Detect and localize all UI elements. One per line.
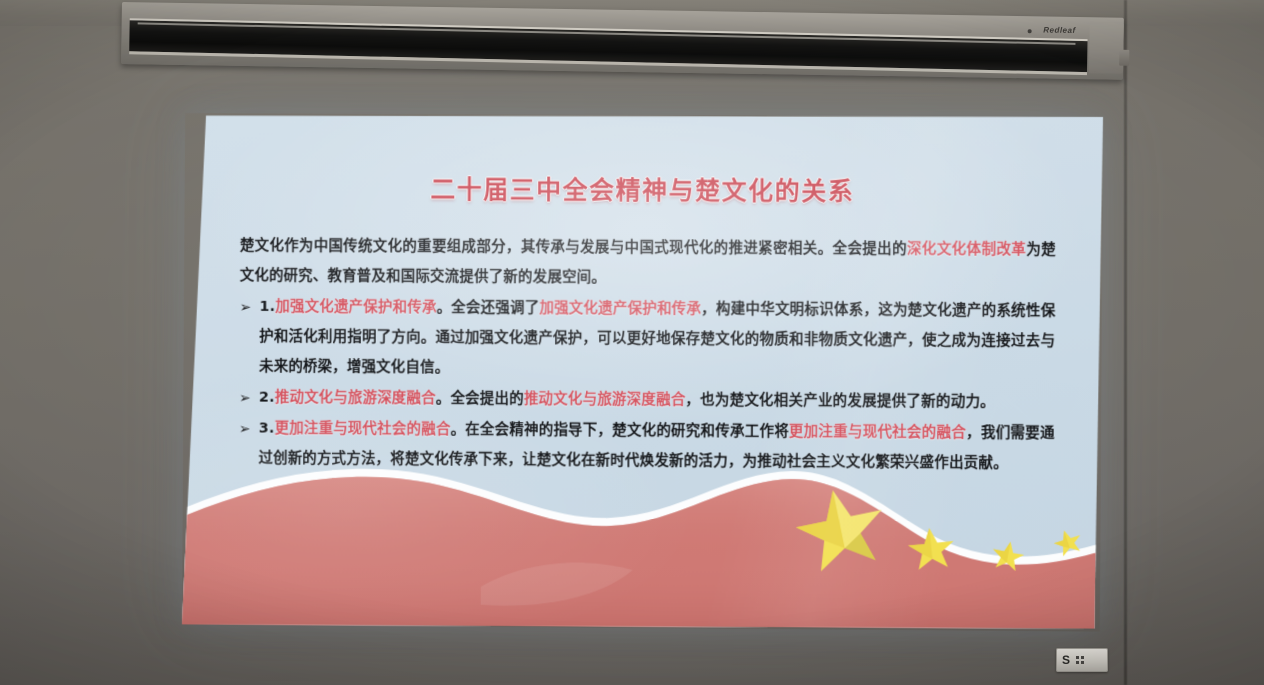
wall-seam-right [1124,0,1127,685]
bullet-item-2: ➢ 2.推动文化与旅游深度融合。全会提出的推动文化与旅游深度融合，也为楚文化相关… [239,383,1055,418]
bullet-marker-icon: ➢ [239,413,259,443]
bullet-marker-icon: ➢ [239,383,259,413]
projector-screen-brand-label: Redleaf [1043,25,1076,35]
bullet-item-1: ➢ 1.加强文化遗产保护和传承。全会还强调了加强文化遗产保护和传承，构建中华文明… [239,292,1056,387]
bullet-2-seg-3: ，也为楚文化相关产业的发展提供了新的动力。 [685,392,995,410]
bullet-2-number: 2. [259,390,275,406]
bullet-item-3: ➢ 3.更加注重与现代社会的融合。在全会精神的指导下，楚文化的研究和传承工作将更… [239,413,1055,478]
bullet-3-seg-2-highlight: 更加注重与现代社会的融合 [789,424,966,441]
classroom-projection-scene: Redleaf [0,0,1264,685]
intro-seg-1-highlight: 深化文化体制改革 [907,241,1026,258]
bullet-1-text: 1.加强文化遗产保护和传承。全会还强调了加强文化遗产保护和传承，构建中华文明标识… [259,292,1056,387]
brand-dot-icon [1028,29,1032,33]
housing-end-cap [1089,21,1124,74]
intro-seg-0: 楚文化作为中国传统文化的重要组成部分，其传承与发展与中国式现代化的推进紧密相关。… [240,238,907,257]
wall-plate-dots-icon [1076,656,1084,664]
five-stars-decoration [182,475,1101,612]
slide-body: 楚文化作为中国传统文化的重要组成部分，其传承与发展与中国式现代化的推进紧密相关。… [239,231,1056,479]
bullet-1-seg-0-highlight: 加强文化遗产保护和传承 [275,299,436,316]
slide-title: 二十届三中全会精神与楚文化的关系 [184,169,1102,209]
bullet-marker-icon: ➢ [239,292,259,322]
bullet-3-text: 3.更加注重与现代社会的融合。在全会精神的指导下，楚文化的研究和传承工作将更加注… [258,414,1054,479]
star-small-icon [990,539,1026,572]
bullet-2-seg-0-highlight: 推动文化与旅游深度融合 [275,390,436,407]
bullet-2-seg-1: 。全会提出的 [436,391,524,408]
slide-canvas: 二十届三中全会精神与楚文化的关系 楚文化作为中国传统文化的重要组成部分，其传承与… [182,113,1103,632]
housing-mount-bracket [1119,50,1129,66]
bullet-3-seg-0-highlight: 更加注重与现代社会的融合 [275,421,451,438]
wall-plate-glyph: S [1062,654,1070,666]
bullet-2-seg-2-highlight: 推动文化与旅游深度融合 [524,391,686,408]
bullet-2-text: 2.推动文化与旅游深度融合。全会提出的推动文化与旅游深度融合，也为楚文化相关产业… [259,383,1055,418]
bullet-3-seg-1: 。在全会精神的指导下，楚文化的研究和传承工作将 [450,422,788,440]
star-smaller-icon [1051,526,1085,557]
wall-socket-plate[interactable]: S [1056,648,1108,672]
bullet-1-seg-2-highlight: 加强文化遗产保护和传承 [539,300,701,317]
intro-paragraph: 楚文化作为中国传统文化的重要组成部分，其传承与发展与中国式现代化的推进紧密相关。… [240,231,1056,295]
star-large-icon [790,481,891,574]
bullet-1-seg-1: 。全会还强调了 [437,300,540,317]
bullet-3-number: 3. [259,421,275,437]
star-medium-icon [907,526,957,571]
projected-slide: 二十届三中全会精神与楚文化的关系 楚文化作为中国传统文化的重要组成部分，其传承与… [182,113,1103,632]
bullet-1-number: 1. [259,299,275,315]
